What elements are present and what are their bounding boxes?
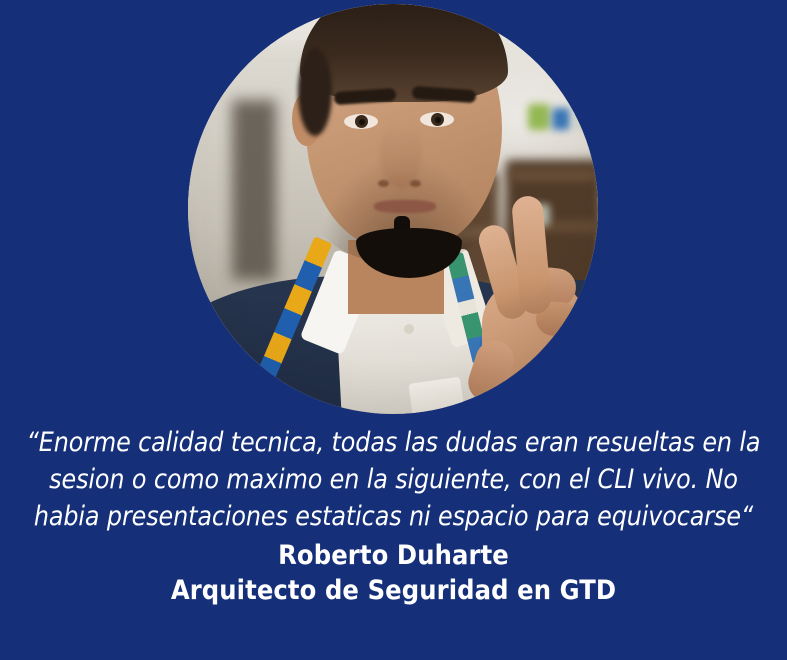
pupil — [359, 119, 365, 125]
lanyard-badge — [408, 377, 467, 414]
author-name: Roberto Duharte — [0, 538, 787, 573]
testimonial-card: “Enorme calidad tecnica, todas las dudas… — [0, 0, 787, 660]
shirt-button — [404, 324, 414, 334]
eye-right — [420, 112, 454, 127]
nose — [380, 124, 422, 188]
hair-temple — [298, 48, 332, 136]
background-shelf — [510, 170, 598, 180]
victory-hand-icon — [466, 190, 598, 414]
eye-left — [344, 114, 378, 129]
testimonial-attribution: Roberto Duharte Arquitecto de Seguridad … — [0, 538, 787, 608]
background-object — [552, 108, 570, 130]
author-role: Arquitecto de Seguridad en GTD — [0, 573, 787, 608]
pupil — [435, 117, 441, 123]
portrait-photo — [188, 4, 598, 414]
avatar — [188, 4, 598, 414]
mouth — [374, 200, 436, 213]
testimonial-quote: “Enorme calidad tecnica, todas las dudas… — [0, 424, 787, 535]
background-doorway — [232, 100, 276, 280]
background-object — [528, 104, 550, 130]
background-object — [574, 104, 594, 130]
nostril-right — [410, 180, 421, 187]
nostril-left — [378, 180, 389, 187]
